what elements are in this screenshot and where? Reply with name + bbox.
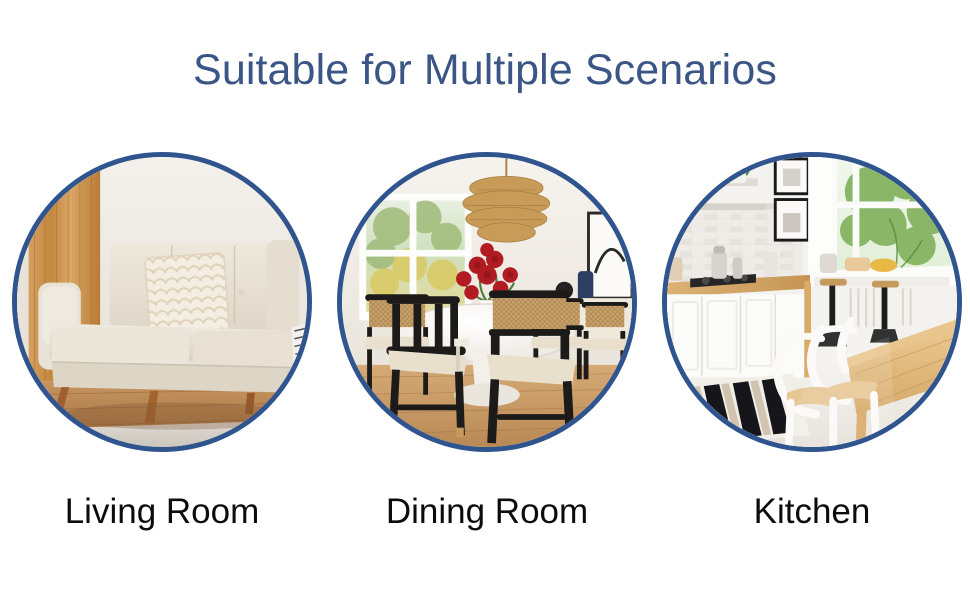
scenario-showcase-page: Suitable for Multiple Scenarios	[0, 0, 970, 600]
caption-dining-room: Dining Room	[337, 492, 637, 532]
scenario-image-dining-room	[337, 152, 637, 452]
page-title: Suitable for Multiple Scenarios	[0, 46, 970, 95]
caption-living-room: Living Room	[12, 492, 312, 532]
living-room-illustration	[17, 157, 307, 447]
scenario-image-kitchen	[662, 152, 962, 452]
kitchen-illustration	[667, 157, 957, 447]
scenario-image-living-room	[12, 152, 312, 452]
caption-kitchen: Kitchen	[662, 492, 962, 532]
dining-room-illustration	[342, 157, 632, 447]
